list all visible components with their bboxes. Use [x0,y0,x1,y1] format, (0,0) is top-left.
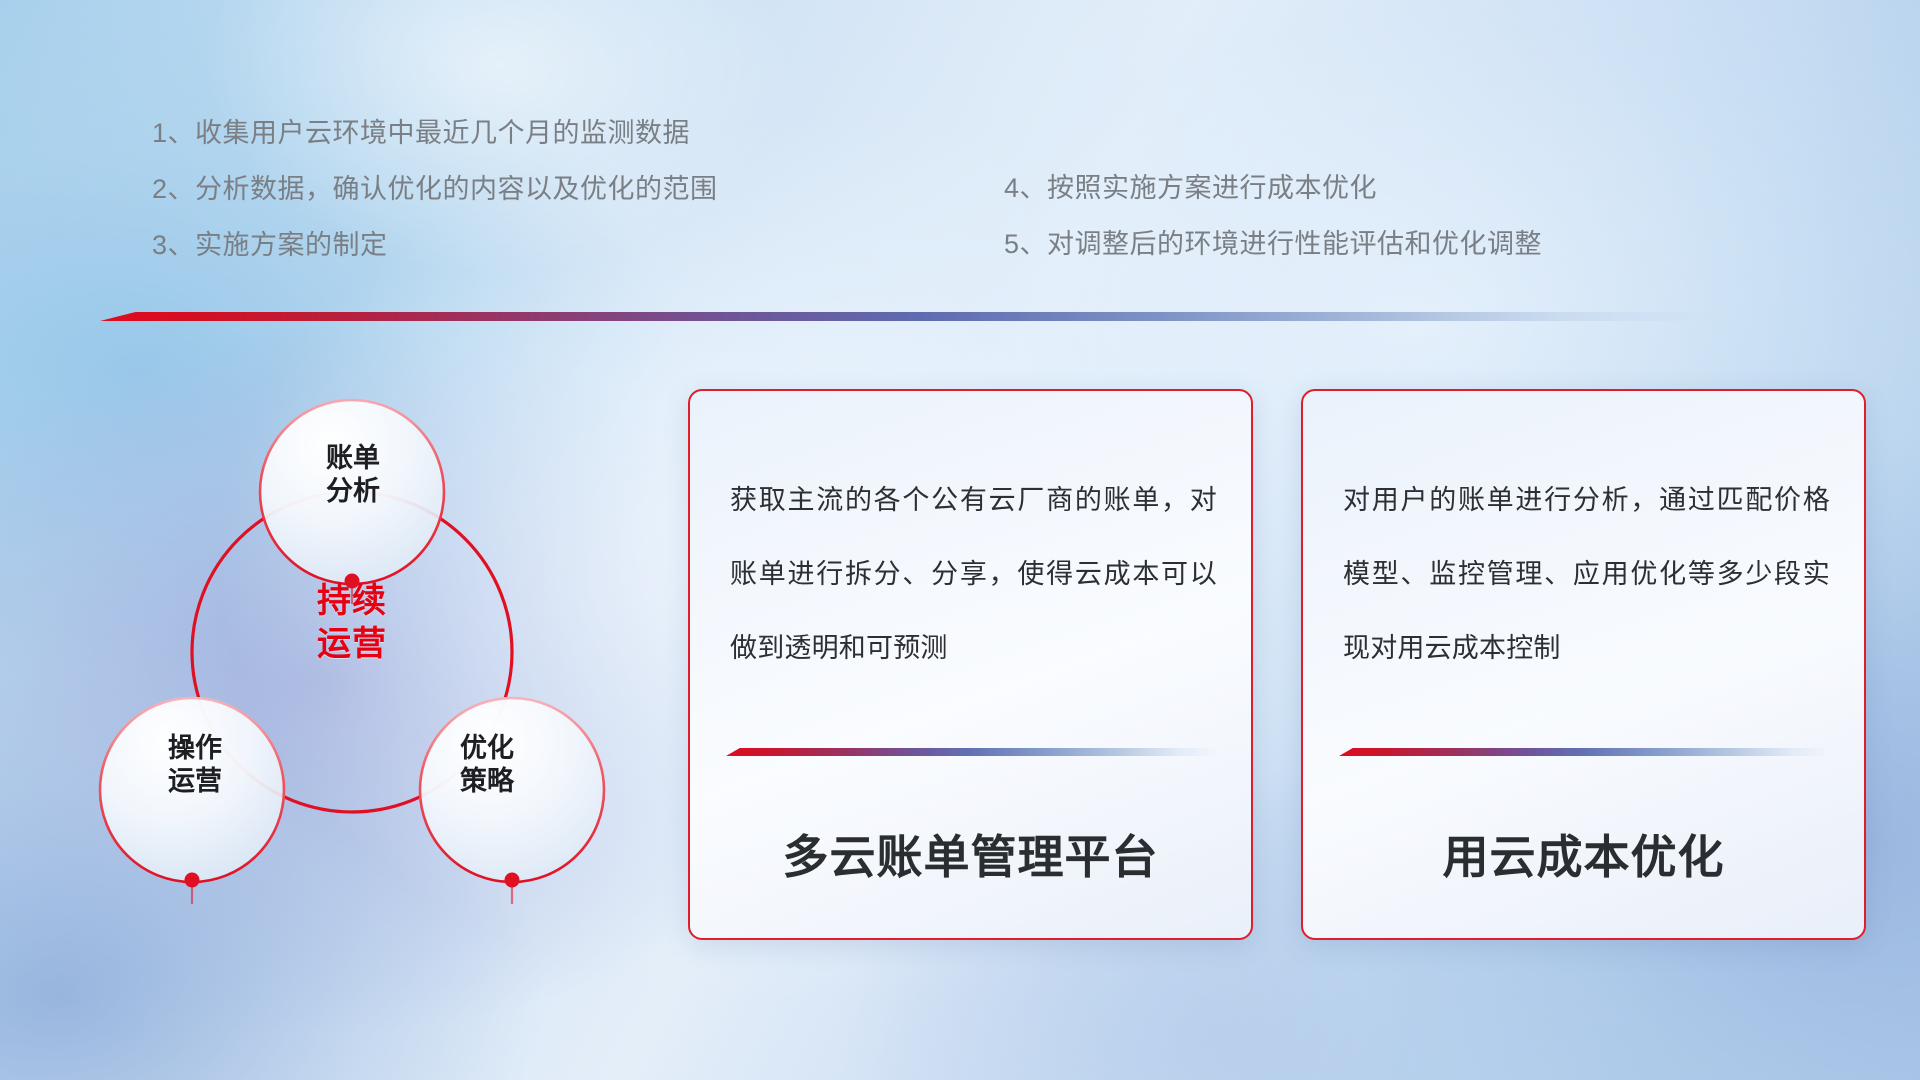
step-item-4: 4、按照实施方案进行成本优化 [1004,160,1542,216]
card-divider-bar [1339,748,1831,756]
venn-label-top: 账单 分析 [288,442,418,508]
step-item-2: 2、分析数据，确认优化的内容以及优化的范围 [152,161,718,217]
section-divider-line [100,312,1710,321]
section-divider-bar [100,312,1710,321]
step-item-5: 5、对调整后的环境进行性能评估和优化调整 [1004,216,1542,272]
card-title: 多云账单管理平台 [690,821,1251,887]
steps-list-right: 4、按照实施方案进行成本优化 5、对调整后的环境进行性能评估和优化调整 [1004,160,1542,272]
venn-diagram: 账单 分析 操作 运营 优化 策略 持续 运营 [92,352,612,952]
step-item-1: 1、收集用户云环境中最近几个月的监测数据 [152,105,718,161]
card-body-text: 对用户的账单进行分析，通过匹配价格模型、监控管理、应用优化等多少段实现对用云成本… [1343,463,1830,685]
card-divider-bar [726,748,1218,756]
venn-label-right: 优化 策略 [422,732,552,798]
steps-list-left: 1、收集用户云环境中最近几个月的监测数据 2、分析数据，确认优化的内容以及优化的… [152,105,718,273]
card-body-text: 获取主流的各个公有云厂商的账单，对账单进行拆分、分享，使得云成本可以做到透明和可… [730,463,1217,685]
card-divider-line [726,748,1218,756]
slide-canvas: 1、收集用户云环境中最近几个月的监测数据 2、分析数据，确认优化的内容以及优化的… [0,0,1920,1080]
card-divider-line [1339,748,1831,756]
venn-label-center: 持续 运营 [252,580,452,666]
venn-label-left: 操作 运营 [130,732,260,798]
card-title: 用云成本优化 [1303,821,1864,887]
card-multi-cloud-billing[interactable]: 获取主流的各个公有云厂商的账单，对账单进行拆分、分享，使得云成本可以做到透明和可… [688,389,1253,940]
card-cloud-cost-optimization[interactable]: 对用户的账单进行分析，通过匹配价格模型、监控管理、应用优化等多少段实现对用云成本… [1301,389,1866,940]
venn-node-dot-left [185,873,200,888]
venn-node-dot-right [505,873,520,888]
step-item-3: 3、实施方案的制定 [152,217,718,273]
